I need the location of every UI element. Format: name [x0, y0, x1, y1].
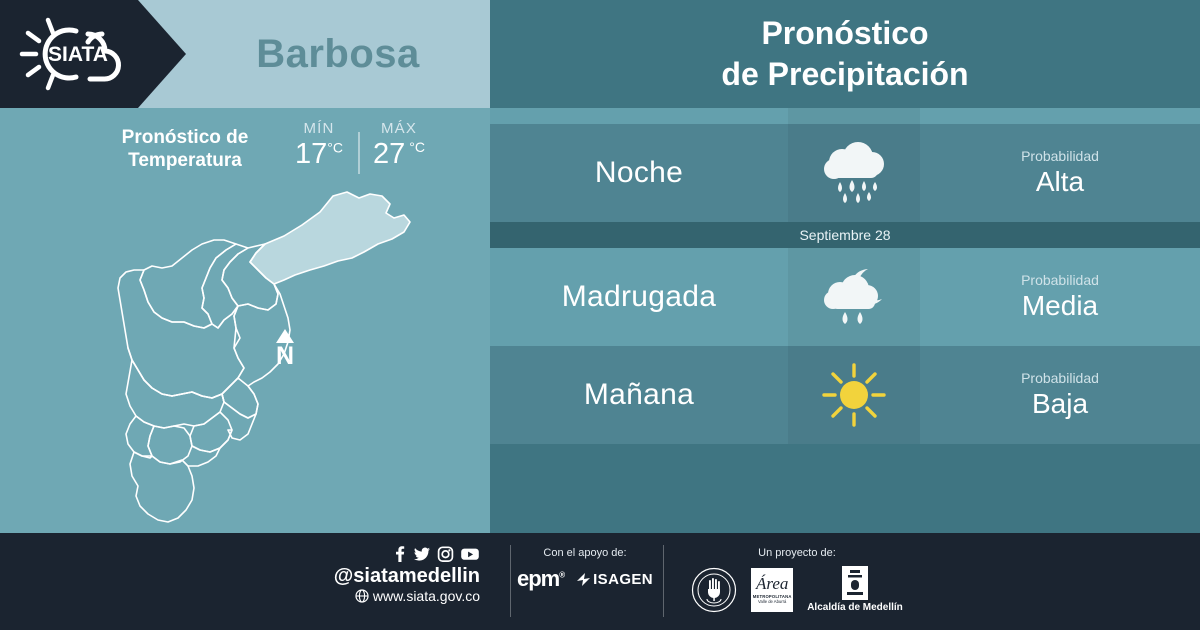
epm-logo-text: epm: [517, 566, 559, 591]
period-label-manana: Mañana: [490, 346, 788, 444]
min-unit: °C: [327, 139, 343, 155]
north-label: N: [276, 344, 294, 369]
alcaldia-de-medellin-logo: Alcaldía de Medellín: [807, 566, 903, 613]
max-value: 27: [373, 138, 405, 170]
universidad-de-antioquia-seal: [691, 567, 737, 613]
temperature-min: MÍN 17°C: [280, 120, 358, 171]
probability-caption: Probabilidad: [1021, 272, 1099, 289]
period-label-madrugada: Madrugada: [490, 248, 788, 346]
website-text: www.siata.gov.co: [373, 588, 480, 605]
probability-manana: Probabilidad Baja: [920, 346, 1200, 444]
weather-forecast-infographic: SIATA Barbosa Pronóstico de Temperatura …: [0, 0, 1200, 630]
map-svg: [52, 182, 452, 534]
moon-rain-cloud-icon: [788, 248, 920, 346]
temperature-values: MÍN 17°C MÁX 27°C: [280, 120, 438, 174]
isagen-logo-text: ISAGEN: [593, 571, 653, 588]
north-arrow-icon: [276, 329, 294, 343]
city-title: Barbosa: [186, 0, 490, 108]
forecast-row-noche[interactable]: Noche: [490, 124, 1200, 222]
precipitation-title-line2: de Precipitación: [721, 56, 968, 92]
rain-cloud-icon: [788, 124, 920, 222]
probability-noche: Probabilidad Alta: [920, 124, 1200, 222]
sun-icon: [788, 346, 920, 444]
instagram-icon[interactable]: [437, 545, 454, 563]
social-handle[interactable]: @siatamedellin: [330, 565, 480, 588]
probability-value: Alta: [1036, 166, 1084, 198]
forecast-row-madrugada[interactable]: Madrugada Probabilidad Media: [490, 248, 1200, 346]
min-value-wrap: 17°C: [280, 139, 358, 171]
map-region-outlines: [118, 240, 290, 522]
epm-logo: epm®: [517, 566, 564, 592]
area-logo-line2: Valle de Aburrá: [758, 599, 786, 604]
footer: @siatamedellin www.siata.gov.co Con el a…: [0, 533, 1200, 630]
max-label: MÁX: [360, 120, 438, 138]
precipitation-panel: Pronóstico de Precipitación Septiembre 2…: [490, 0, 1200, 533]
isagen-mark-icon: [576, 572, 591, 587]
probability-caption: Probabilidad: [1021, 148, 1099, 165]
max-value-wrap: 27°C: [360, 139, 438, 171]
temperature-max: MÁX 27°C: [360, 120, 438, 171]
temperature-title-line2: Temperatura: [128, 150, 242, 171]
left-header: SIATA Barbosa: [0, 0, 490, 108]
siata-logo-text: SIATA: [48, 43, 108, 66]
siata-logo-block: SIATA: [0, 0, 186, 108]
min-label: MÍN: [280, 120, 358, 138]
project-logos: Área METROPOLITANA Valle de Aburrá: [672, 566, 922, 613]
map-region-barbosa-highlight: [250, 192, 410, 284]
area-metropolitana-logo: Área METROPOLITANA Valle de Aburrá: [751, 568, 793, 612]
temperature-title-line1: Pronóstico de: [122, 127, 249, 148]
alcaldia-logo-text: Alcaldía de Medellín: [807, 602, 903, 613]
support-logos: epm® ISAGEN: [505, 566, 665, 592]
max-unit: °C: [409, 139, 425, 155]
temperature-title: Pronóstico de Temperatura: [96, 126, 274, 172]
probability-value: Media: [1022, 290, 1098, 322]
social-block: @siatamedellin www.siata.gov.co: [330, 545, 480, 605]
youtube-icon[interactable]: [460, 545, 480, 563]
twitter-icon[interactable]: [413, 545, 431, 563]
globe-icon: [355, 589, 369, 603]
support-caption: Con el apoyo de:: [505, 547, 665, 559]
temperature-block: Pronóstico de Temperatura MÍN 17°C MÁX 2…: [0, 108, 490, 186]
sun-icon-svg: [818, 361, 890, 429]
probability-caption: Probabilidad: [1021, 370, 1099, 387]
rain-cloud-icon-svg: [814, 142, 894, 204]
aburra-valley-map: N: [0, 186, 490, 533]
forecast-row-manana[interactable]: Mañana Probabili: [490, 346, 1200, 444]
min-value: 17: [295, 138, 327, 170]
left-panel: SIATA Barbosa Pronóstico de Temperatura …: [0, 0, 490, 533]
project-caption: Un proyecto de:: [672, 547, 922, 559]
alcaldia-mark-icon: [842, 566, 868, 600]
footer-divider-2: [663, 545, 664, 617]
period-label-noche: Noche: [490, 124, 788, 222]
date-band-2: Septiembre 28: [490, 222, 1200, 248]
support-block: Con el apoyo de: epm® ISAGEN: [505, 547, 665, 592]
precipitation-title: Pronóstico de Precipitación: [721, 13, 968, 95]
precipitation-header: Pronóstico de Precipitación: [490, 0, 1200, 108]
website-line[interactable]: www.siata.gov.co: [330, 588, 480, 605]
project-block: Un proyecto de: Área: [672, 547, 922, 613]
moon-rain-cloud-icon-svg: [814, 266, 894, 328]
probability-value: Baja: [1032, 388, 1088, 420]
facebook-icon[interactable]: [391, 545, 407, 563]
north-indicator: N: [276, 329, 294, 369]
social-icons: [330, 545, 480, 563]
sun-cloud-icon: SIATA: [14, 14, 144, 94]
probability-madrugada: Probabilidad Media: [920, 248, 1200, 346]
isagen-logo: ISAGEN: [576, 571, 653, 588]
precipitation-title-line1: Pronóstico: [761, 15, 928, 51]
